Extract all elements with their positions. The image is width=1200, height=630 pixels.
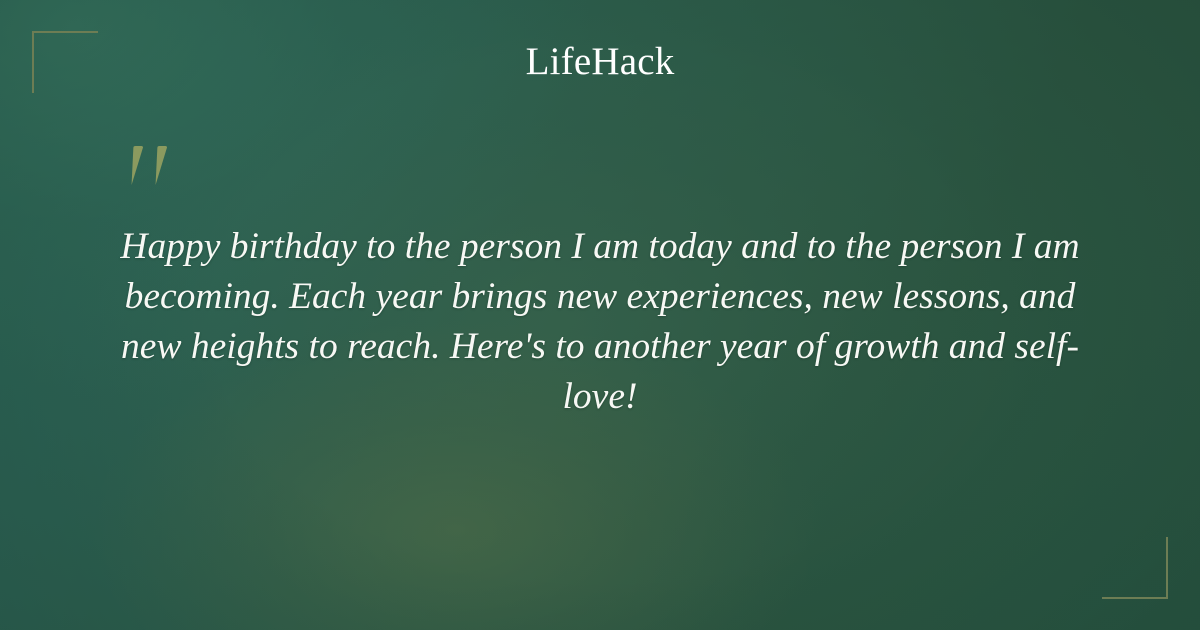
corner-bracket-bottom-right-vertical <box>1166 537 1168 599</box>
quote-text: Happy birthday to the person I am today … <box>90 222 1110 422</box>
brand-logo: LifeHack <box>0 40 1200 84</box>
corner-bracket-bottom-right-icon <box>1102 537 1168 599</box>
quotation-mark-icon <box>128 146 184 194</box>
quote-card: LifeHack Happy birthday to the person I … <box>0 0 1200 630</box>
quotation-mark-stroke-right <box>151 146 168 185</box>
corner-bracket-top-left-horizontal <box>32 31 98 33</box>
quotation-mark-stroke-left <box>127 146 144 185</box>
corner-bracket-bottom-right-horizontal <box>1102 597 1168 599</box>
